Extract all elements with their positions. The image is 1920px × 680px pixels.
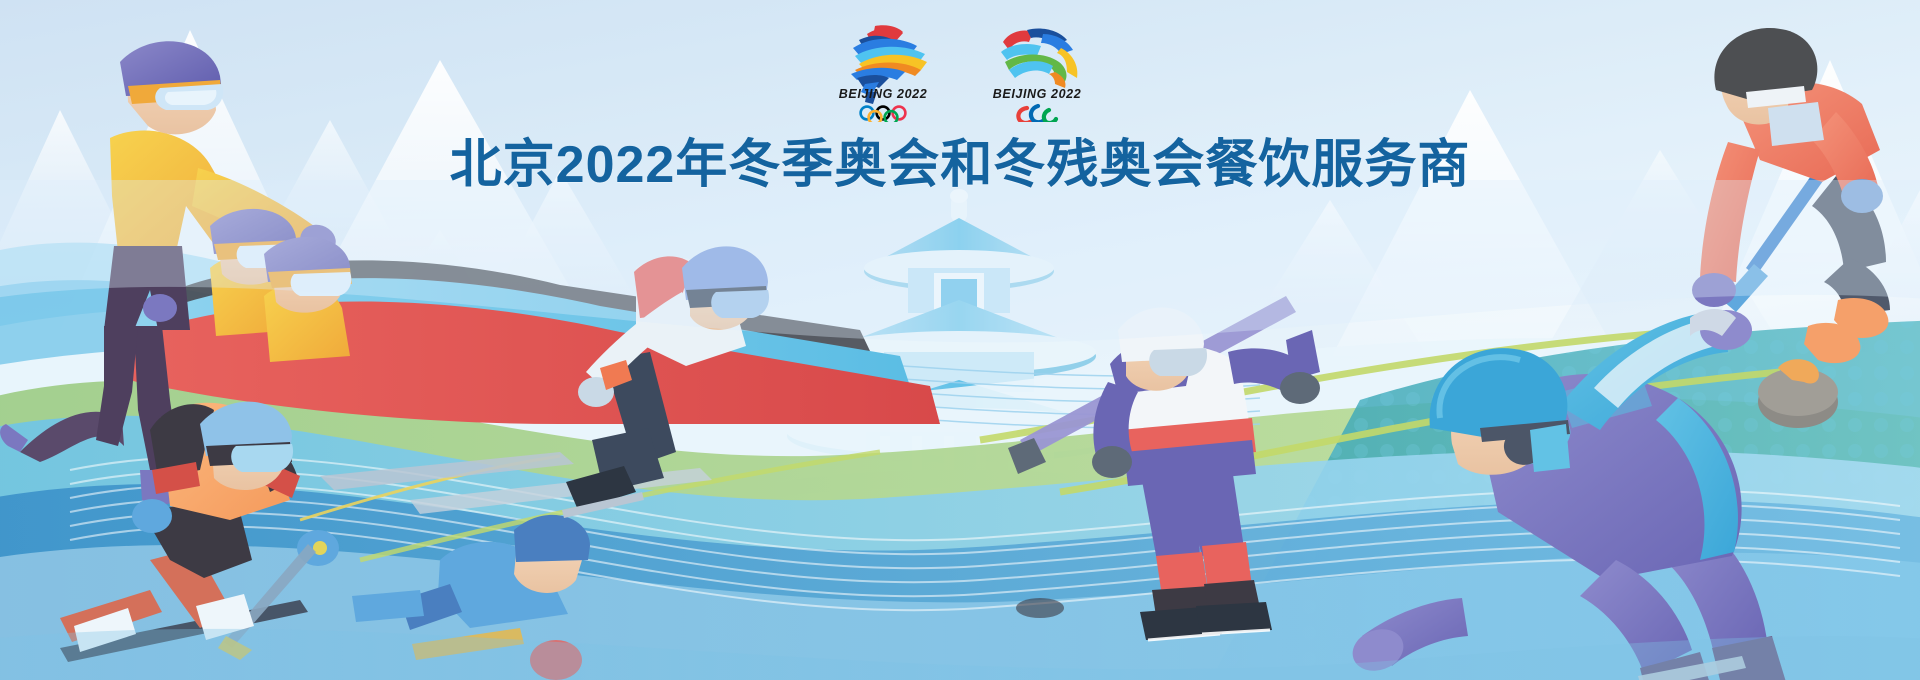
beijing-2022-olympic-emblem: BEIJING 2022 — [823, 22, 943, 122]
beijing-2022-paralympic-emblem: BEIJING 2022 — [977, 22, 1097, 122]
title-container: 北京2022年冬季奥会和冬残奥会餐饮服务商 — [0, 122, 1920, 197]
fei-flying-ribbon — [1001, 28, 1077, 88]
paralympic-wordmark: BEIJING 2022 — [993, 87, 1082, 101]
agitos-symbol — [1018, 106, 1056, 122]
emblem-group: BEIJING 2022 — [0, 22, 1920, 122]
beijing-2022-banner: BEIJING 2022 — [0, 0, 1920, 680]
page-title: 北京2022年冬季奥会和冬残奥会餐饮服务商 — [450, 122, 1471, 197]
olympic-wordmark: BEIJING 2022 — [839, 87, 928, 101]
olympic-rings — [861, 107, 906, 122]
